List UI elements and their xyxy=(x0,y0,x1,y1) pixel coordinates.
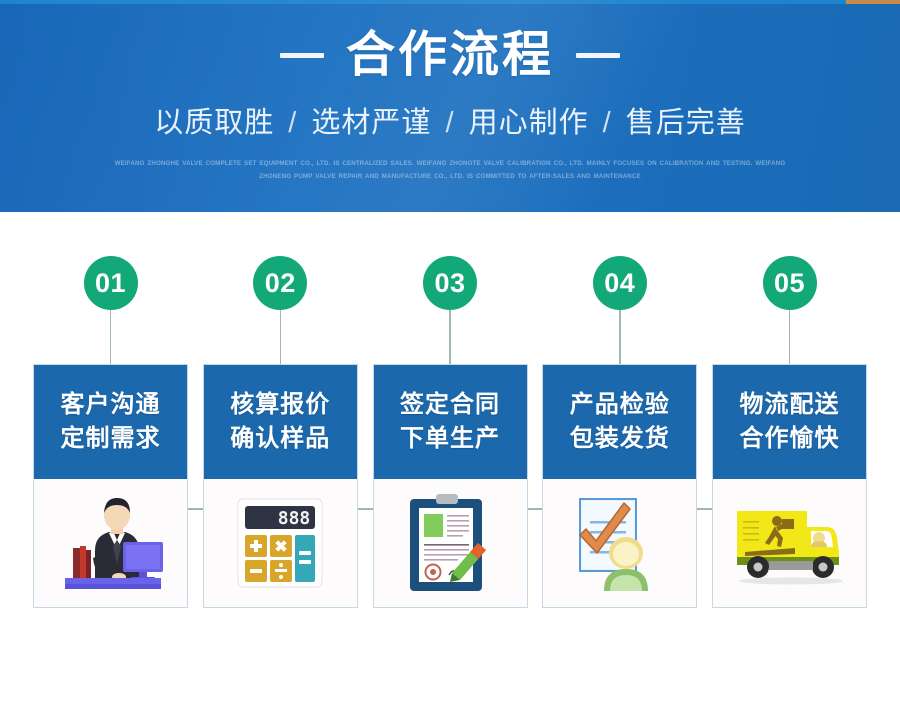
step-title-line-1: 物流配送 xyxy=(740,389,840,421)
banner-english-caption: WEIFANG ZHONGHE VALVE COMPLETE SET EQUIP… xyxy=(100,157,800,183)
step-stem-line xyxy=(280,310,282,364)
step-card[interactable]: 产品检验 包装发货 xyxy=(542,364,697,608)
step-number-badge: 04 xyxy=(593,256,647,310)
step-title-line-2: 定制需求 xyxy=(61,423,161,455)
step-stem-line xyxy=(449,310,451,364)
step-title-line-2: 确认样品 xyxy=(230,423,330,455)
banner-subtitle: 以质取胜 / 选材严谨 / 用心制作 / 售后完善 xyxy=(154,105,746,141)
step-stem-line xyxy=(619,310,621,364)
step-title-line-1: 签定合同 xyxy=(400,389,500,421)
step-card[interactable]: 签定合同 下单生产 xyxy=(373,364,528,608)
step-card[interactable]: 核算报价 确认样品 888 xyxy=(203,364,358,608)
subtitle-separator-1: / xyxy=(283,107,302,139)
page-title: 合作流程 xyxy=(346,26,554,84)
businessman-at-desk-icon xyxy=(51,488,171,598)
flow-step-05[interactable]: 05 物流配送 合作愉快 xyxy=(712,212,867,692)
subtitle-item-2: 选材严谨 xyxy=(311,107,431,139)
page-banner: 合作流程 以质取胜 / 选材严谨 / 用心制作 / 售后完善 WEIFANG Z… xyxy=(0,0,900,212)
step-card-header: 物流配送 合作愉快 xyxy=(713,365,866,479)
step-stem-line xyxy=(110,310,112,364)
step-card-header: 客户沟通 定制需求 xyxy=(34,365,187,479)
step-number-badge: 05 xyxy=(763,256,817,310)
page-bottom-padding xyxy=(0,692,900,702)
step-illustration xyxy=(543,479,696,607)
step-title-line-1: 产品检验 xyxy=(570,389,670,421)
flow-steps-container: 01 客户沟通 定制需求 xyxy=(0,212,900,692)
step-card[interactable]: 客户沟通 定制需求 xyxy=(33,364,188,608)
contract-clipboard-pen-icon xyxy=(400,489,500,597)
step-illustration: 888 xyxy=(204,479,357,607)
subtitle-item-4: 售后完善 xyxy=(626,107,746,139)
step-title-line-2: 合作愉快 xyxy=(740,423,840,455)
step-number-badge: 01 xyxy=(84,256,138,310)
subtitle-separator-3: / xyxy=(598,107,617,139)
checklist-person-icon xyxy=(566,491,674,595)
step-illustration xyxy=(374,479,527,607)
step-stem-line xyxy=(789,310,791,364)
step-illustration xyxy=(713,479,866,607)
step-title-line-2: 包装发货 xyxy=(570,423,670,455)
step-title-line-1: 客户沟通 xyxy=(61,389,161,421)
step-title-line-2: 下单生产 xyxy=(400,423,500,455)
step-number-badge: 02 xyxy=(253,256,307,310)
subtitle-item-3: 用心制作 xyxy=(469,107,589,139)
step-number-badge: 03 xyxy=(423,256,477,310)
subtitle-separator-2: / xyxy=(440,107,459,139)
step-illustration xyxy=(34,479,187,607)
flow-step-01[interactable]: 01 客户沟通 定制需求 xyxy=(33,212,188,692)
title-dash-right-icon xyxy=(576,53,620,58)
step-card[interactable]: 物流配送 合作愉快 xyxy=(712,364,867,608)
title-dash-left-icon xyxy=(280,53,324,58)
banner-title-row: 合作流程 xyxy=(280,22,620,88)
delivery-truck-icon xyxy=(731,497,849,589)
calculator-display-value: 888 xyxy=(278,508,311,529)
step-card-header: 产品检验 包装发货 xyxy=(543,365,696,479)
process-flow-section: 01 客户沟通 定制需求 xyxy=(0,212,900,692)
step-card-header: 核算报价 确认样品 xyxy=(204,365,357,479)
flow-step-02[interactable]: 02 核算报价 确认样品 888 xyxy=(203,212,358,692)
flow-step-04[interactable]: 04 产品检验 包装发货 xyxy=(542,212,697,692)
step-card-header: 签定合同 下单生产 xyxy=(374,365,527,479)
subtitle-item-1: 以质取胜 xyxy=(154,107,274,139)
calculator-icon: 888 xyxy=(232,493,328,593)
step-title-line-1: 核算报价 xyxy=(230,389,330,421)
flow-step-03[interactable]: 03 签定合同 下单生产 xyxy=(373,212,528,692)
